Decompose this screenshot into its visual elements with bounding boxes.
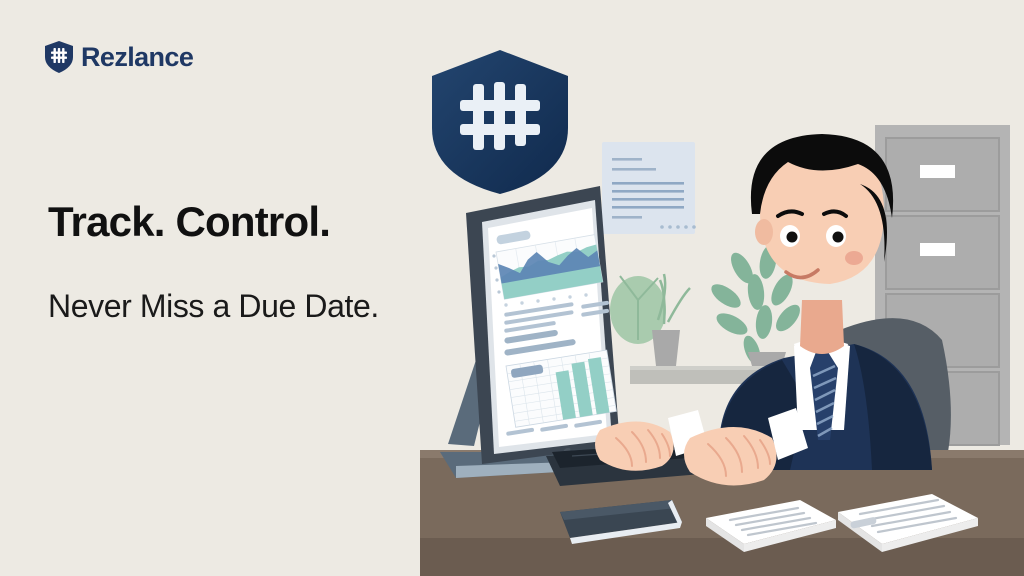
hero-banner: Rezlance Track. Control. Never Miss a Du… xyxy=(0,0,1024,576)
monitor xyxy=(466,186,620,464)
hero-subheadline: Never Miss a Due Date. xyxy=(48,288,379,325)
brand-name: Rezlance xyxy=(81,44,193,71)
hero-shield-badge xyxy=(424,46,576,198)
hero-headline: Track. Control. xyxy=(48,198,330,246)
wall-note xyxy=(602,142,696,234)
brand-logo[interactable]: Rezlance xyxy=(44,40,193,74)
shield-hash-icon xyxy=(44,40,74,74)
